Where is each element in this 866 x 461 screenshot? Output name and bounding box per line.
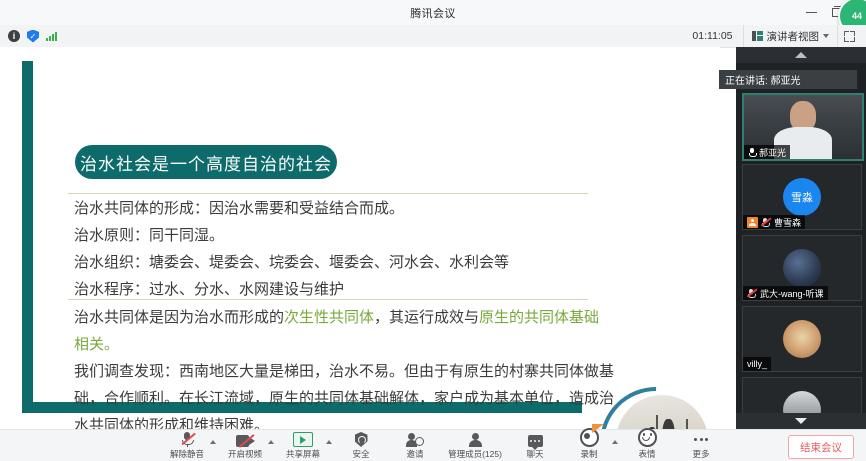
highlight-text: 次生性共同体 xyxy=(284,308,374,326)
participant-name: villy_ xyxy=(747,359,767,369)
signal-icon[interactable] xyxy=(46,31,57,41)
participant-rail: 郝亚光 雪淼 曹雪森 武大-wang-听课 xyxy=(736,47,866,429)
toolbar-button-security[interactable]: 安全 xyxy=(334,430,388,461)
avatar xyxy=(783,249,821,287)
minimize-icon[interactable] xyxy=(806,7,817,18)
invite-user-icon xyxy=(405,432,425,447)
status-bar-right: 01:11:05 演讲者视图 xyxy=(682,25,866,47)
toolbar-button-start-video[interactable]: 开启视频 xyxy=(218,430,272,461)
emoji-icon xyxy=(637,432,657,447)
members-icon xyxy=(465,432,485,447)
more-icon xyxy=(691,432,711,447)
chat-icon xyxy=(525,432,545,447)
slide-line: 治水原则：同干同湿。 xyxy=(74,222,614,249)
participant-name-chip: 武大-wang-听课 xyxy=(743,286,828,300)
participant-name-chip: villy_ xyxy=(743,357,771,371)
window-controls xyxy=(806,0,842,25)
text-segment: 治水共同体是因为治水而形成的 xyxy=(74,308,284,326)
participant-name: 武大-wang-听课 xyxy=(760,287,824,300)
end-meeting-button[interactable]: 结束会议 xyxy=(788,435,854,459)
toolbar-label: 共享屏幕 xyxy=(286,448,320,460)
mic-off-icon xyxy=(747,288,757,298)
shield-icon[interactable]: ✓ xyxy=(27,30,39,43)
slide-title: 治水社会是一个高度自治的社会 xyxy=(75,145,337,179)
fullscreen-button[interactable] xyxy=(838,25,860,47)
host-icon xyxy=(747,217,758,228)
record-icon xyxy=(579,432,599,447)
participant-name: 曹雪森 xyxy=(774,216,801,229)
share-screen-icon xyxy=(293,432,313,447)
participant-name-chip: 曹雪森 xyxy=(743,215,805,229)
meeting-timer: 01:11:05 xyxy=(682,30,742,42)
rail-scroll-down-button[interactable] xyxy=(736,413,866,429)
slide-frame-left xyxy=(22,61,33,413)
participant-name-chip: 郝亚光 xyxy=(744,145,790,159)
participant-tile[interactable]: 武大-wang-听课 xyxy=(742,235,862,301)
window-title: 腾讯会议 xyxy=(410,5,456,21)
toolbar-button-more[interactable]: 更多 xyxy=(674,430,728,461)
slide-divider-top xyxy=(68,193,588,194)
tencent-meeting-window: 腾讯会议 44 i ✓ 01:11:05 演讲者视图 xyxy=(0,0,866,461)
participant-tile[interactable]: villy_ xyxy=(742,306,862,372)
view-mode-selector[interactable]: 演讲者视图 xyxy=(743,25,839,47)
presentation-slide: 治水社会是一个高度自治的社会 治水共同体的形成：因治水需要和受益结合而成。 治水… xyxy=(0,47,720,429)
toolbar-label: 安全 xyxy=(352,448,369,460)
video-options-caret-icon[interactable] xyxy=(268,440,274,444)
toolbar-label: 表情 xyxy=(638,448,655,460)
meeting-toolbar: 解除静音 开启视频 共享屏幕 安全 xyxy=(0,429,866,461)
slide-divider-middle xyxy=(68,299,588,300)
toolbar-label: 更多 xyxy=(692,448,709,460)
slide-paragraph-highlighted: 治水共同体是因为治水而形成的次生性共同体，其运行成效与原生的共同体基础相关。 xyxy=(74,304,614,358)
mic-on-icon xyxy=(748,148,756,157)
title-bar: 腾讯会议 44 xyxy=(0,0,866,26)
participant-name: 郝亚光 xyxy=(759,146,786,159)
participant-tile[interactable]: 郝亚光 xyxy=(742,93,864,161)
mic-off-icon xyxy=(761,217,771,227)
toolbar-label: 邀请 xyxy=(406,448,423,460)
toolbar-label: 开启视频 xyxy=(228,448,262,460)
toolbar-label: 录制 xyxy=(580,448,597,460)
triangle-up-icon xyxy=(795,52,807,58)
toolbar-button-record[interactable]: 录制 xyxy=(562,430,616,461)
microphone-muted-icon xyxy=(177,432,197,447)
chevron-down-icon xyxy=(823,34,829,38)
toolbar-button-chat[interactable]: 聊天 xyxy=(508,430,562,461)
toolbar-button-share-screen[interactable]: 共享屏幕 xyxy=(276,430,330,461)
status-bar: i ✓ 01:11:05 演讲者视图 xyxy=(0,25,866,48)
shared-screen-stage[interactable]: 治水社会是一个高度自治的社会 治水共同体的形成：因治水需要和受益结合而成。 治水… xyxy=(0,47,720,461)
rail-scroll-up-button[interactable] xyxy=(736,47,866,63)
toolbar-label: 管理成员(125) xyxy=(448,448,502,460)
slide-line: 治水组织：塘委会、堤委会、垸委会、堰委会、河水会、水利会等 xyxy=(74,249,614,276)
slide-line: 治水共同体的形成：因治水需要和受益结合而成。 xyxy=(74,195,614,222)
avatar: 雪淼 xyxy=(783,178,821,216)
share-options-caret-icon[interactable] xyxy=(326,440,332,444)
toolbar-button-emoji[interactable]: 表情 xyxy=(620,430,674,461)
toolbar-buttons: 解除静音 开启视频 共享屏幕 安全 xyxy=(160,430,728,461)
toolbar-label: 解除静音 xyxy=(170,448,204,460)
slide-body-block-2: 治水共同体是因为治水而形成的次生性共同体，其运行成效与原生的共同体基础相关。 我… xyxy=(74,304,614,429)
layout-icon xyxy=(752,31,763,41)
avatar xyxy=(783,320,821,358)
info-icon[interactable]: i xyxy=(8,30,20,42)
slide-photo xyxy=(600,387,720,429)
camera-off-icon xyxy=(235,432,255,447)
toolbar-button-unmute[interactable]: 解除静音 xyxy=(160,430,214,461)
status-bar-left: i ✓ xyxy=(0,30,57,43)
slide-paragraph: 我们调查发现：西南地区大量是梯田，治水不易。但由于有原生的村寨共同体做基础，合作… xyxy=(74,358,614,429)
shield-icon xyxy=(351,432,371,447)
triangle-down-icon xyxy=(795,418,807,424)
unmute-options-caret-icon[interactable] xyxy=(210,440,216,444)
text-segment: ，其运行成效与 xyxy=(374,308,479,326)
view-mode-label: 演讲者视图 xyxy=(767,29,820,44)
speaking-indicator: 正在讲话: 郝亚光 xyxy=(719,70,857,89)
slide-body-block-1: 治水共同体的形成：因治水需要和受益结合而成。 治水原则：同干同湿。 治水组织：塘… xyxy=(74,195,614,303)
participant-tile[interactable]: 雪淼 曹雪森 xyxy=(742,164,862,230)
fullscreen-icon xyxy=(844,31,855,42)
toolbar-button-invite[interactable]: 邀请 xyxy=(388,430,442,461)
record-options-caret-icon[interactable] xyxy=(612,440,618,444)
toolbar-button-manage-members[interactable]: 管理成员(125) xyxy=(442,430,508,461)
